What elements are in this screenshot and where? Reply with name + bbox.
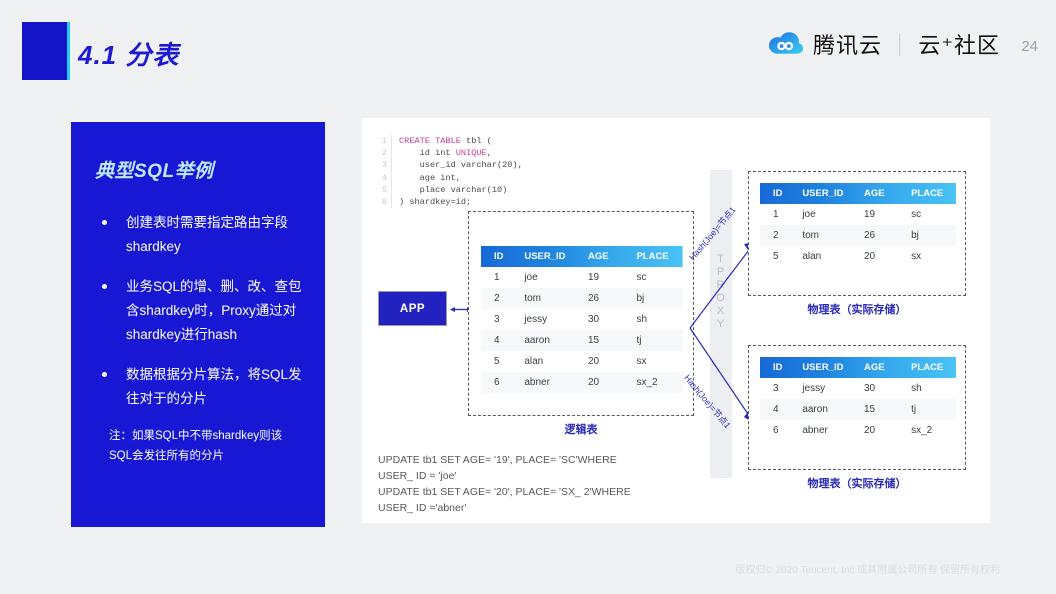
- table-cell: aaron: [515, 330, 582, 351]
- update-statement-line: UPDATE tb1 SET AGE= '19', PLACE= 'SC'WHE…: [378, 452, 631, 468]
- table-cell: joe: [515, 267, 582, 288]
- table-header-row: IDUSER_IDAGEPLACE: [760, 357, 956, 378]
- panel-title: 典型SQL举例: [95, 156, 303, 183]
- column-header: PLACE: [628, 246, 683, 267]
- sql-line: 2 id int UNIQUE,: [379, 147, 523, 159]
- slide-page-number: 24: [1021, 38, 1038, 55]
- table-row: 4aaron15tj: [481, 330, 683, 351]
- panel-bullet-0: 创建表时需要指定路由字段shardkey: [95, 211, 303, 258]
- sql-line: 4 age int,: [379, 172, 523, 184]
- summary-panel: 典型SQL举例 创建表时需要指定路由字段shardkey业务SQL的增、删、改、…: [71, 122, 325, 527]
- logical-table-caption: 逻辑表: [468, 421, 694, 437]
- copyright-footer: 版权归© 2020 Tencent, Inc.或其附属公司所有 保留所有权利: [735, 561, 1000, 576]
- table-row: 2tom26bj: [481, 288, 683, 309]
- table-cell: 30: [858, 378, 903, 399]
- table-cell: abner: [515, 372, 582, 393]
- physical-table-top-region: IDUSER_IDAGEPLACE 1joe19sc2tom26bj5alan2…: [748, 171, 966, 296]
- physical-table-bottom-body: 3jessy30sh4aaron15tj6abner20sx_2: [760, 378, 956, 441]
- app-node: APP: [378, 291, 447, 326]
- brand-sub-name: 云⁺社区: [918, 28, 1000, 60]
- logical-table: IDUSER_IDAGEPLACE 1joe19sc2tom26bj3jessy…: [481, 246, 683, 393]
- column-header: USER_ID: [793, 357, 858, 378]
- table-cell: sc: [628, 267, 683, 288]
- table-cell: 4: [760, 399, 793, 420]
- table-cell: bj: [903, 225, 956, 246]
- column-header: ID: [760, 357, 793, 378]
- sql-line-content: ) shardkey=id;: [399, 196, 471, 208]
- title-accent-mark: [22, 22, 67, 80]
- table-cell: tj: [628, 330, 683, 351]
- table-cell: 3: [760, 378, 793, 399]
- sql-line-content: CREATE TABLE tbl (: [399, 135, 492, 147]
- table-cell: 20: [582, 372, 628, 393]
- table-cell: sh: [903, 378, 956, 399]
- column-header: ID: [760, 183, 793, 204]
- table-cell: aaron: [793, 399, 858, 420]
- logical-table-body: 1joe19sc2tom26bj3jessy30sh4aaron15tj5ala…: [481, 267, 683, 393]
- logical-table-region: IDUSER_IDAGEPLACE 1joe19sc2tom26bj3jessy…: [468, 211, 694, 416]
- sql-line-number: 2: [379, 147, 392, 159]
- table-cell: 5: [760, 246, 793, 267]
- panel-bullet-list: 创建表时需要指定路由字段shardkey业务SQL的增、删、改、查包含shard…: [95, 211, 303, 410]
- panel-note: 注：如果SQL中不带shardkey则该SQL会发往所有的分片: [95, 427, 303, 466]
- update-statements-block: UPDATE tb1 SET AGE= '19', PLACE= 'SC'WHE…: [378, 452, 631, 516]
- table-header-row: IDUSER_IDAGEPLACE: [760, 183, 956, 204]
- physical-table-top-head: IDUSER_IDAGEPLACE: [760, 183, 956, 204]
- physical-table-bottom: IDUSER_IDAGEPLACE 3jessy30sh4aaron15tj6a…: [760, 357, 956, 441]
- column-header: USER_ID: [515, 246, 582, 267]
- physical-table-bottom-wrapper: IDUSER_IDAGEPLACE 3jessy30sh4aaron15tj6a…: [760, 357, 956, 441]
- page-title: 4.1 分表: [78, 35, 179, 72]
- sql-line-content: user_id varchar(20),: [399, 159, 523, 171]
- table-cell: 2: [481, 288, 515, 309]
- table-row: 1joe19sc: [760, 204, 956, 225]
- sql-line-content: place varchar(10): [399, 184, 507, 196]
- sql-line-number: 5: [379, 184, 392, 196]
- table-row: 5alan20sx: [760, 246, 956, 267]
- table-cell: sc: [903, 204, 956, 225]
- update-statement-line: USER_ ID ='abner': [378, 500, 631, 516]
- physical-table-bottom-head: IDUSER_IDAGEPLACE: [760, 357, 956, 378]
- column-header: USER_ID: [793, 183, 858, 204]
- table-cell: sx: [903, 246, 956, 267]
- table-cell: abner: [793, 420, 858, 441]
- table-row: 6abner20sx_2: [760, 420, 956, 441]
- column-header: PLACE: [903, 183, 956, 204]
- table-cell: 2: [760, 225, 793, 246]
- table-cell: 15: [582, 330, 628, 351]
- table-cell: 15: [858, 399, 903, 420]
- sql-line-number: 4: [379, 172, 392, 184]
- table-row: 3jessy30sh: [760, 378, 956, 399]
- table-cell: tj: [903, 399, 956, 420]
- table-row: 3jessy30sh: [481, 309, 683, 330]
- brand-lockup: 腾讯云 | 云⁺社区: [768, 28, 1000, 60]
- panel-bullet-2: 数据根据分片算法，将SQL发往对于的分片: [95, 363, 303, 410]
- sql-line-number: 3: [379, 159, 392, 171]
- table-cell: 1: [760, 204, 793, 225]
- table-cell: 19: [582, 267, 628, 288]
- table-row: 2tom26bj: [760, 225, 956, 246]
- table-cell: sx_2: [628, 372, 683, 393]
- sql-line: 1CREATE TABLE tbl (: [379, 135, 523, 147]
- panel-bullet-1: 业务SQL的增、删、改、查包含shardkey时，Proxy通过对shardke…: [95, 275, 303, 346]
- table-cell: jessy: [793, 378, 858, 399]
- table-header-row: IDUSER_IDAGEPLACE: [481, 246, 683, 267]
- brand-name: 腾讯云: [813, 28, 882, 60]
- sql-line-number: 1: [379, 135, 392, 147]
- table-cell: bj: [628, 288, 683, 309]
- diagram-card: 1CREATE TABLE tbl (2 id int UNIQUE,3 use…: [362, 118, 990, 523]
- table-cell: 20: [858, 420, 903, 441]
- physical-table-top-body: 1joe19sc2tom26bj5alan20sx: [760, 204, 956, 267]
- table-row: 1joe19sc: [481, 267, 683, 288]
- sql-line: 5 place varchar(10): [379, 184, 523, 196]
- update-statement-line: USER_ ID = 'joe': [378, 468, 631, 484]
- table-cell: 19: [858, 204, 903, 225]
- physical-table-top: IDUSER_IDAGEPLACE 1joe19sc2tom26bj5alan2…: [760, 183, 956, 267]
- table-cell: 3: [481, 309, 515, 330]
- table-cell: alan: [793, 246, 858, 267]
- table-row: 6abner20sx_2: [481, 372, 683, 393]
- table-cell: 20: [582, 351, 628, 372]
- table-cell: jessy: [515, 309, 582, 330]
- table-cell: sh: [628, 309, 683, 330]
- table-cell: 6: [760, 420, 793, 441]
- column-header: AGE: [858, 183, 903, 204]
- sql-line: 6) shardkey=id;: [379, 196, 523, 208]
- table-cell: 4: [481, 330, 515, 351]
- table-cell: tom: [793, 225, 858, 246]
- table-cell: sx_2: [903, 420, 956, 441]
- physical-table-bottom-caption: 物理表（实际存储）: [748, 475, 966, 491]
- physical-table-top-caption: 物理表（实际存储）: [748, 301, 966, 317]
- sql-line-number: 6: [379, 196, 392, 208]
- column-header: PLACE: [903, 357, 956, 378]
- update-statement-line: UPDATE tb1 SET AGE= '20', PLACE= 'SX_ 2'…: [378, 484, 631, 500]
- table-cell: 1: [481, 267, 515, 288]
- table-cell: alan: [515, 351, 582, 372]
- physical-table-bottom-region: IDUSER_IDAGEPLACE 3jessy30sh4aaron15tj6a…: [748, 345, 966, 470]
- column-header: AGE: [858, 357, 903, 378]
- column-header: AGE: [582, 246, 628, 267]
- table-cell: 26: [582, 288, 628, 309]
- slide-header: 4.1 分表 腾讯云 | 云⁺社区 24: [0, 0, 1056, 108]
- table-cell: tom: [515, 288, 582, 309]
- table-cell: joe: [793, 204, 858, 225]
- sql-line-content: id int UNIQUE,: [399, 147, 492, 159]
- logical-table-wrapper: IDUSER_IDAGEPLACE 1joe19sc2tom26bj3jessy…: [481, 246, 683, 393]
- brand-divider: |: [896, 32, 904, 57]
- sql-line-content: age int,: [399, 172, 461, 184]
- table-cell: 30: [582, 309, 628, 330]
- column-header: ID: [481, 246, 515, 267]
- logical-table-head: IDUSER_IDAGEPLACE: [481, 246, 683, 267]
- table-cell: 20: [858, 246, 903, 267]
- sql-line: 3 user_id varchar(20),: [379, 159, 523, 171]
- table-cell: 6: [481, 372, 515, 393]
- physical-table-top-wrapper: IDUSER_IDAGEPLACE 1joe19sc2tom26bj5alan2…: [760, 183, 956, 267]
- table-cell: sx: [628, 351, 683, 372]
- table-row: 4aaron15tj: [760, 399, 956, 420]
- table-cell: 5: [481, 351, 515, 372]
- tencent-cloud-logo-icon: [768, 31, 804, 57]
- table-row: 5alan20sx: [481, 351, 683, 372]
- sql-code-block: 1CREATE TABLE tbl (2 id int UNIQUE,3 use…: [379, 135, 523, 208]
- table-cell: 26: [858, 225, 903, 246]
